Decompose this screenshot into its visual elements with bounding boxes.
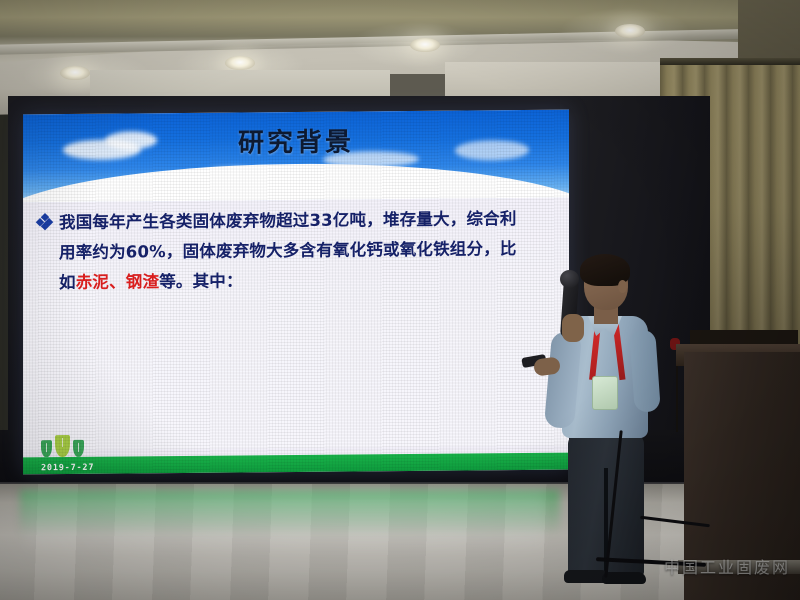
slide-line-3-post: 等。其中： <box>159 271 243 291</box>
presenter-ear <box>618 280 627 293</box>
slide-line-3-pre: 如 <box>59 273 76 292</box>
ceiling-downlight-icon <box>225 56 255 70</box>
floor-reflection-green-bar <box>20 490 560 536</box>
slide-line-3-highlight: 赤泥、钢渣 <box>76 272 160 292</box>
slide-line-1: 我国每年产生各类固体废弃物超过33亿吨，堆存量大，综合利 <box>59 204 517 238</box>
ceiling-downlight-icon <box>615 24 645 38</box>
ceiling-downlight-icon <box>410 38 440 52</box>
presentation-photo-scene: 研究背景 我国每年产生各类固体废弃物超过33亿吨，堆存量大，综合利 用率约为60… <box>0 0 800 600</box>
slide-paragraph: 我国每年产生各类固体废弃物超过33亿吨，堆存量大，综合利 用率约为60%，固体废… <box>59 204 517 298</box>
presenter-name-badge <box>592 376 618 410</box>
presenter-right-hand <box>562 314 584 342</box>
diamond-bullet-icon <box>37 214 52 229</box>
slide-wave <box>23 161 569 202</box>
site-watermark: 中国工业固废网 <box>664 554 790 578</box>
slide-shield-logo-icon <box>41 435 84 457</box>
slide-body: 我国每年产生各类固体废弃物超过33亿吨，堆存量大，综合利 用率约为60%，固体废… <box>23 198 569 451</box>
slide-line-3: 如赤泥、钢渣等。其中： <box>59 264 517 298</box>
presenter-right-arm <box>629 329 661 413</box>
slide-title: 研究背景 <box>23 120 569 162</box>
presenter-shoe <box>602 572 646 584</box>
presenter <box>540 258 670 588</box>
microphone-head-icon <box>560 270 579 288</box>
slide-date: 2019-7-27 <box>41 463 94 473</box>
slide-line-2: 用率约为60%，固体废弃物大多含有氧化钙或氧化铁组分，比 <box>59 234 517 268</box>
projected-slide: 研究背景 我国每年产生各类固体废弃物超过33亿吨，堆存量大，综合利 用率约为60… <box>23 110 569 475</box>
ceiling-downlight-icon <box>60 66 90 80</box>
curtain-rod <box>660 58 800 65</box>
